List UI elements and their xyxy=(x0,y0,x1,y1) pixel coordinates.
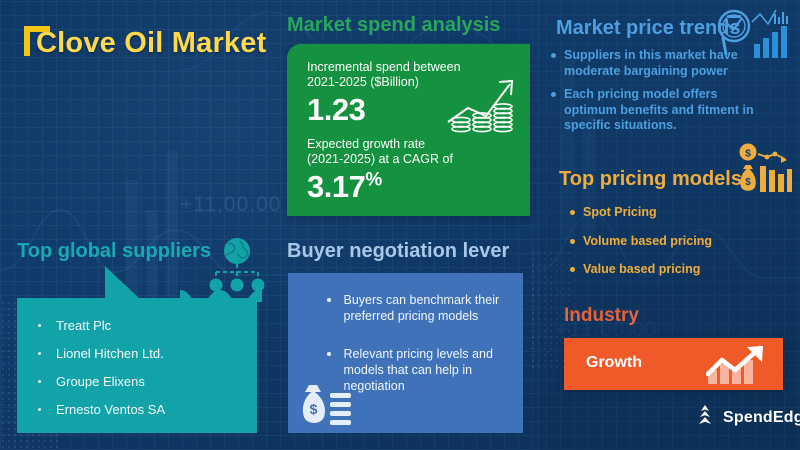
growth-rate-number: 3.17 xyxy=(307,169,365,204)
svg-text:$: $ xyxy=(745,177,751,188)
industry-heading: Industry xyxy=(564,305,639,327)
background-bar-3 xyxy=(166,150,178,300)
bullet-dot-icon xyxy=(38,324,41,327)
growth-rate-label-line2: (2021-2025) at a CAGR of xyxy=(307,152,453,167)
infographic-canvas: +11,00.00 +11,00.00 Clove Oil Market Mar… xyxy=(0,0,800,450)
list-item: Treatt Plc xyxy=(38,318,165,333)
coin-stack-growth-icon xyxy=(444,72,522,143)
money-bag-declining-bars-icon: $ $ xyxy=(737,143,795,200)
price-trend-bullet-1: Suppliers in this market have moderate b… xyxy=(564,48,761,79)
list-item: Value based pricing xyxy=(570,262,770,278)
price-trend-bullet-2: Each pricing model offers optimum benefi… xyxy=(564,87,761,134)
growth-rate-value: 3.17% xyxy=(307,169,382,205)
speech-bubble-tail xyxy=(105,266,141,300)
industry-value: Growth xyxy=(586,354,642,372)
list-item: Buyers can benchmark their preferred pri… xyxy=(327,292,517,324)
page-title: Clove Oil Market xyxy=(36,27,266,60)
bullet-dot-icon xyxy=(327,298,331,302)
supplier-list: Treatt Plc Lionel Hitchen Ltd. Groupe El… xyxy=(38,318,165,430)
list-item: Spot Pricing xyxy=(570,205,770,221)
bullet-dot-icon xyxy=(38,380,41,383)
list-item: Volume based pricing xyxy=(570,234,770,250)
bullet-dot-icon xyxy=(570,239,575,244)
growth-rate-unit: % xyxy=(365,170,381,191)
incremental-spend-label: Incremental spend between xyxy=(307,60,461,75)
pricing-model-3: Value based pricing xyxy=(583,262,700,278)
supplier-1: Treatt Plc xyxy=(56,318,111,333)
incremental-spend-value: 1.23 xyxy=(307,92,365,128)
list-item: Each pricing model offers optimum benefi… xyxy=(551,87,761,134)
spendedge-logo-text: SpendEdge xyxy=(723,409,800,427)
bullet-dot-icon xyxy=(570,267,575,272)
top-global-suppliers-heading: Top global suppliers xyxy=(17,240,211,263)
top-pricing-models-bullets: Spot Pricing Volume based pricing Value … xyxy=(570,205,770,285)
market-spend-card: Incremental spend between 2021-2025 ($Bi… xyxy=(287,44,530,216)
bullet-dot-icon xyxy=(551,92,556,97)
upward-trend-bars-icon xyxy=(706,344,768,391)
market-price-trends-bullets: Suppliers in this market have moderate b… xyxy=(551,48,761,141)
supplier-3: Groupe Elixens xyxy=(56,374,145,389)
spendedge-chevron-logo-icon xyxy=(694,404,716,431)
buyer-bullet-2: Relevant pricing levels and models that … xyxy=(344,346,518,394)
background-ticker-text: +11,00.00 xyxy=(180,193,281,217)
bullet-dot-icon xyxy=(38,408,41,411)
market-price-trends-heading: Market price trends xyxy=(556,17,741,40)
svg-text:$: $ xyxy=(310,401,318,417)
market-spend-heading: Market spend analysis xyxy=(287,14,500,37)
pricing-model-2: Volume based pricing xyxy=(583,234,712,250)
bullet-dot-icon xyxy=(38,352,41,355)
supplier-2: Lionel Hitchen Ltd. xyxy=(56,346,164,361)
top-pricing-models-heading: Top pricing models xyxy=(559,168,742,191)
bullet-dot-icon xyxy=(551,53,556,58)
buyer-negotiation-bullets: Buyers can benchmark their preferred pri… xyxy=(327,292,517,410)
pricing-model-1: Spot Pricing xyxy=(583,205,657,221)
spendedge-logo: SpendEdge ™ xyxy=(694,404,800,431)
buyer-bullet-1: Buyers can benchmark their preferred pri… xyxy=(344,292,518,324)
svg-text:$: $ xyxy=(745,148,751,160)
list-item: Suppliers in this market have moderate b… xyxy=(551,48,761,79)
list-item: Groupe Elixens xyxy=(38,374,165,389)
supplier-4: Ernesto Ventos SA xyxy=(56,402,165,417)
bullet-dot-icon xyxy=(327,352,331,356)
incremental-spend-label-line2: 2021-2025 ($Billion) xyxy=(307,75,419,90)
list-item: Ernesto Ventos SA xyxy=(38,402,165,417)
list-item: Lionel Hitchen Ltd. xyxy=(38,346,165,361)
list-item: Relevant pricing levels and models that … xyxy=(327,346,517,394)
bullet-dot-icon xyxy=(570,210,575,215)
growth-rate-label: Expected growth rate xyxy=(307,137,425,152)
buyer-negotiation-heading: Buyer negotiation lever xyxy=(287,240,509,263)
